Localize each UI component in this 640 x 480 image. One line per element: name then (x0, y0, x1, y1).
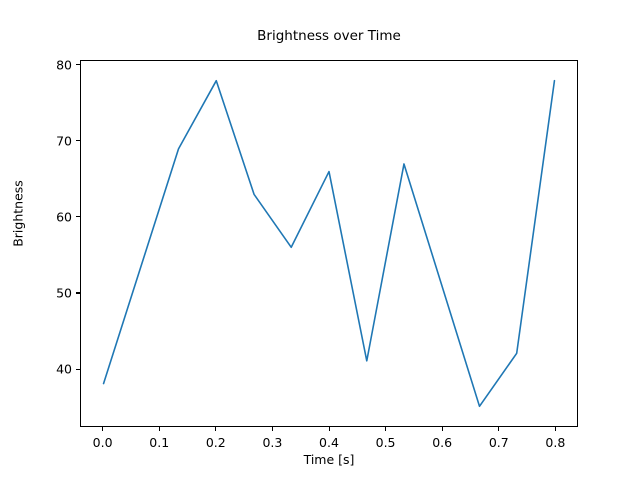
x-tick-mark (272, 427, 273, 431)
x-tick-mark (159, 427, 160, 431)
plot-area (80, 60, 578, 427)
x-tick-label: 0.8 (525, 435, 585, 450)
x-tick-label: 0.5 (356, 435, 416, 450)
line-series-brightness (104, 81, 555, 407)
x-tick-mark (555, 427, 556, 431)
x-tick-mark (442, 427, 443, 431)
x-tick-label: 0.3 (242, 435, 302, 450)
x-tick-label: 0.7 (469, 435, 529, 450)
x-tick-mark (498, 427, 499, 431)
x-tick-label: 0.0 (73, 435, 133, 450)
x-tick-mark (102, 427, 103, 431)
chart-figure: Brightness over Time Brightness Time [s]… (0, 0, 640, 480)
x-tick-label: 0.1 (129, 435, 189, 450)
x-tick-label: 0.6 (412, 435, 472, 450)
line-series-svg (81, 61, 577, 426)
x-tick-mark (385, 427, 386, 431)
x-tick-mark (215, 427, 216, 431)
x-tick-label: 0.2 (186, 435, 246, 450)
x-tick-mark (329, 427, 330, 431)
x-tick-label: 0.4 (299, 435, 359, 450)
